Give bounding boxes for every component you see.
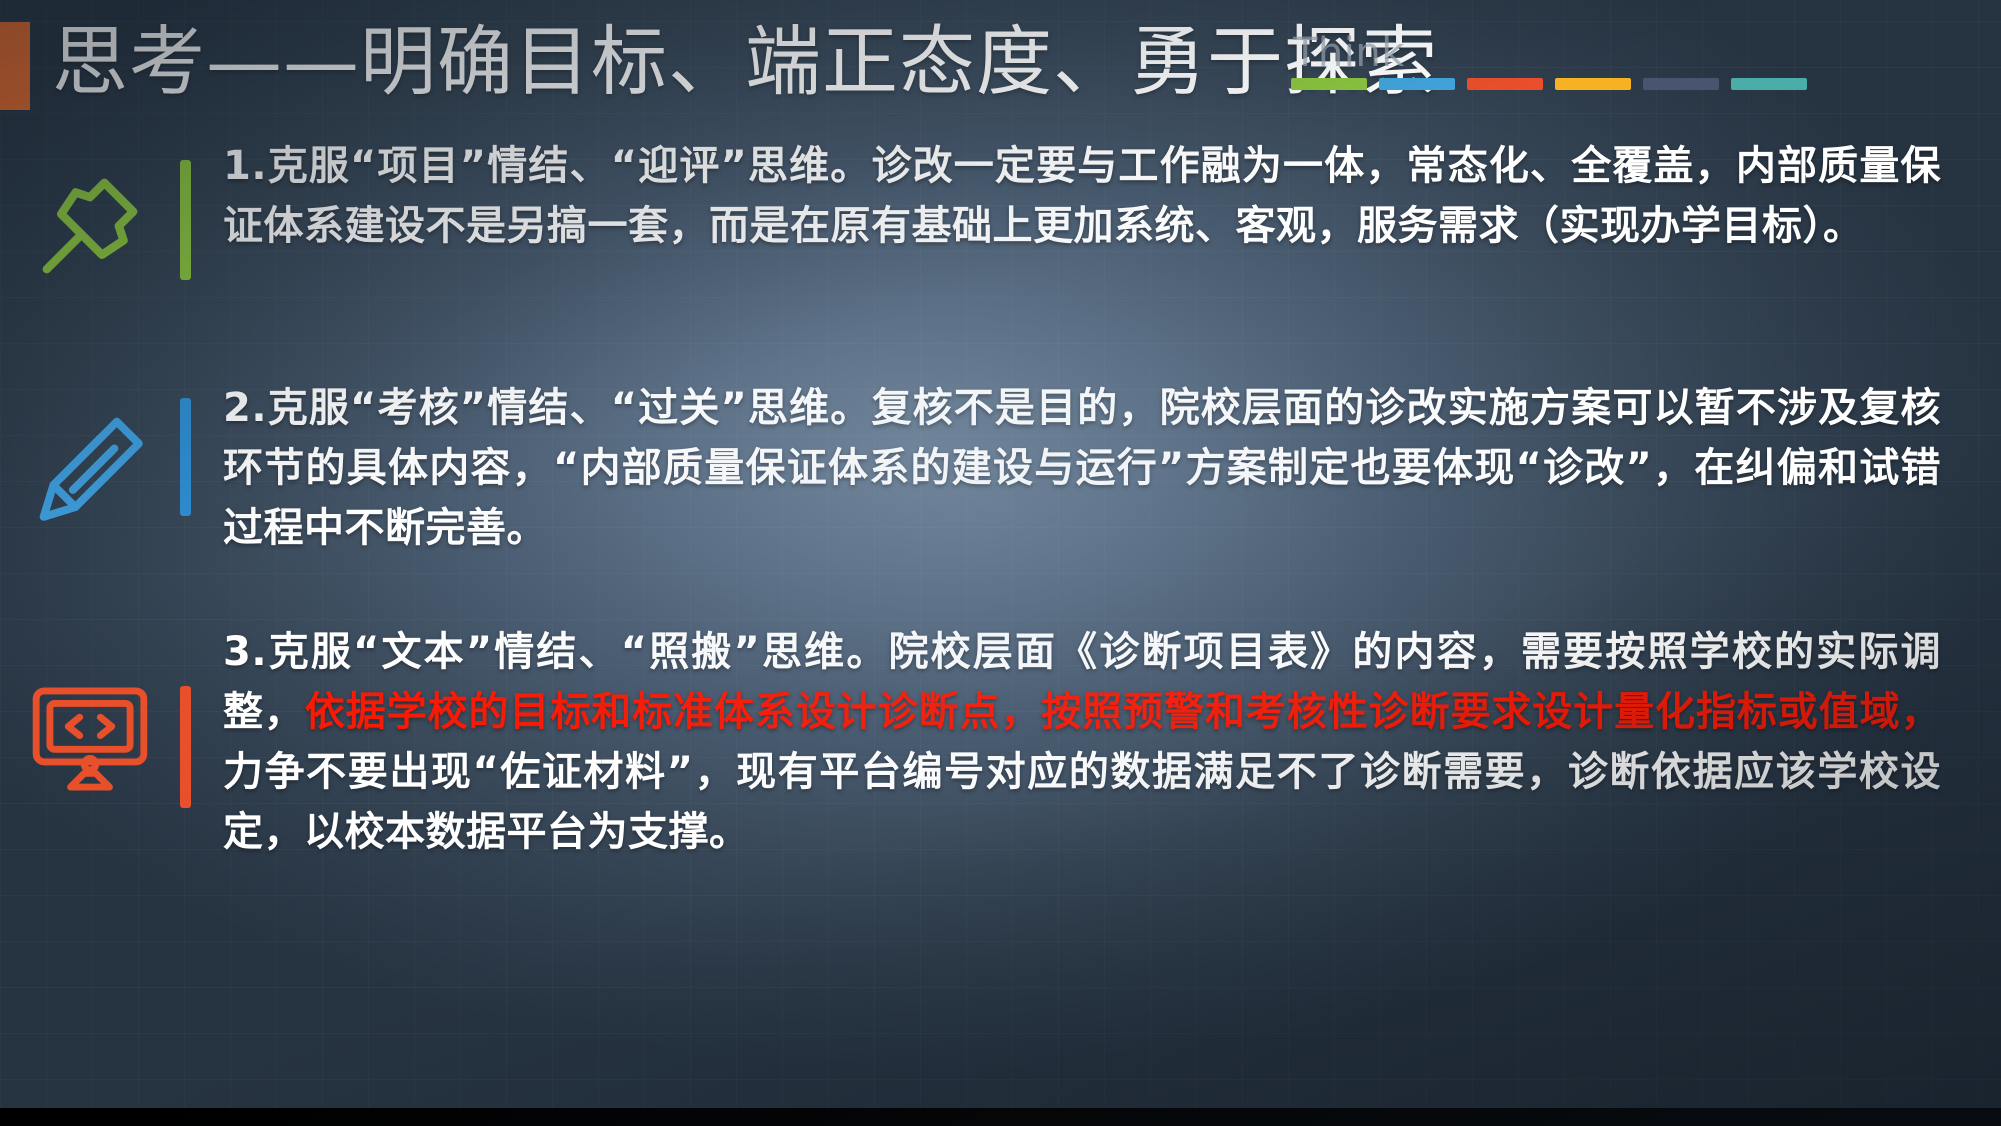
bottom-strip (0, 1108, 2001, 1126)
block-1-text: 1.克服“项目”情结、“迎评”思维。诊改一定要与工作融为一体，常态化、全覆盖，内… (223, 136, 2001, 256)
title-accent-bar (0, 22, 30, 110)
bar-red (1467, 78, 1543, 90)
block-2-accent-bar (180, 398, 191, 516)
block-1-run-1: 1.克服“项目”情结、“迎评”思维。诊改一定要与工作融为一体，常态化、全覆盖，内… (223, 143, 1941, 249)
block-3-accent-bar (180, 686, 191, 808)
block-2-text: 2.克服“考核”情结、“过关”思维。复核不是目的，院校层面的诊改实施方案可以暂不… (223, 378, 2001, 558)
monitor-code-icon (0, 622, 180, 964)
pencil-icon (0, 378, 180, 558)
block-3-run-2: 依据学校的目标和标准体系设计诊断点，按照预警和考核性诊断要求设计量化指标或值域， (305, 689, 1941, 735)
content-block-1: 1.克服“项目”情结、“迎评”思维。诊改一定要与工作融为一体，常态化、全覆盖，内… (0, 136, 2001, 336)
bar-navy (1643, 78, 1719, 90)
page-title: 思考——明确目标、端正态度、勇于探索 (52, 10, 1438, 114)
block-1-accent-bar (180, 160, 191, 280)
think-watermark-text: Think (1293, 30, 1405, 76)
think-watermark-block: Think (1271, 30, 2001, 110)
block-3-run-3: 力争不要出现“佐证材料”，现有平台编号对应的数据满足不了诊断需要，诊断依据应该学… (223, 749, 1941, 855)
slide-content: 1.克服“项目”情结、“迎评”思维。诊改一定要与工作融为一体，常态化、全覆盖，内… (0, 130, 2001, 922)
pushpin-icon (0, 136, 180, 316)
bar-green (1291, 78, 1367, 90)
color-bar-strip (1291, 78, 1807, 90)
content-block-3: 3.克服“文本”情结、“照搬”思维。院校层面《诊断项目表》的内容，需要按照学校的… (0, 622, 2001, 922)
bar-blue (1379, 78, 1455, 90)
block-3-text: 3.克服“文本”情结、“照搬”思维。院校层面《诊断项目表》的内容，需要按照学校的… (223, 622, 2001, 862)
bar-teal (1731, 78, 1807, 90)
slide-canvas: 思考——明确目标、端正态度、勇于探索 Think 1.克服“项目”情结、“迎评”… (0, 0, 2001, 1126)
block-2-run-1: 2.克服“考核”情结、“过关”思维。复核不是目的，院校层面的诊改实施方案可以暂不… (223, 385, 1941, 551)
bar-amber (1555, 78, 1631, 90)
content-block-2: 2.克服“考核”情结、“过关”思维。复核不是目的，院校层面的诊改实施方案可以暂不… (0, 378, 2001, 578)
